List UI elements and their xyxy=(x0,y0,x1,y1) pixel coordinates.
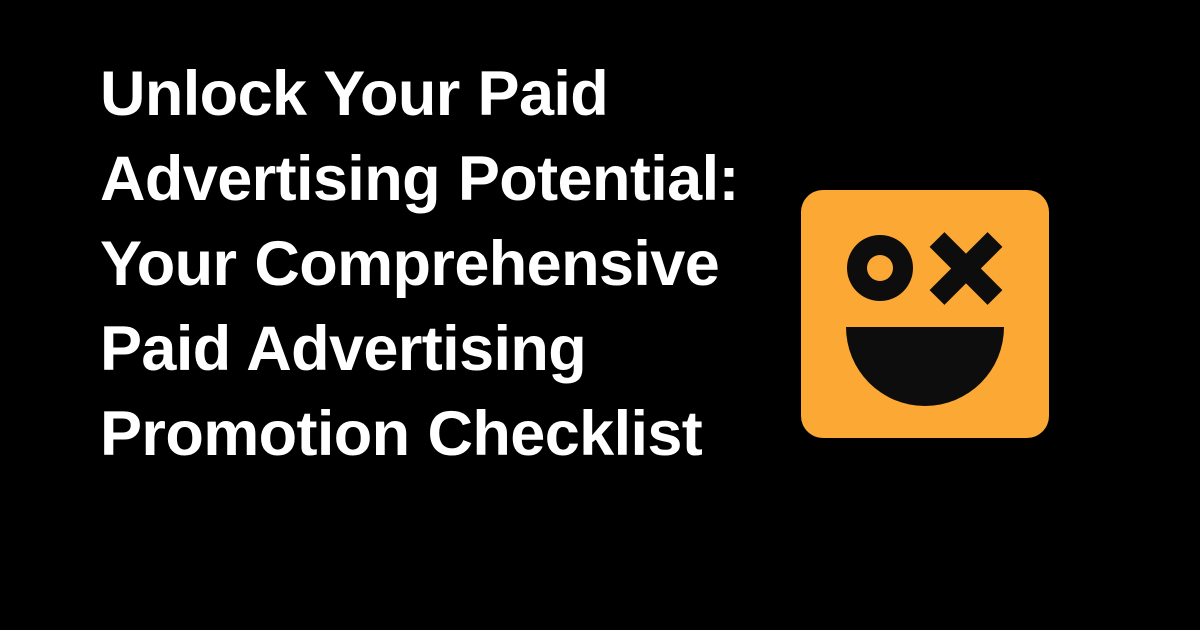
ring-eye-icon xyxy=(847,235,913,301)
x-eye-icon xyxy=(934,236,998,300)
semicircle-smile-icon xyxy=(846,327,1004,406)
smiley-face-icon xyxy=(801,190,1049,438)
social-share-card: Unlock Your Paid Advertising Potential: … xyxy=(0,0,1200,630)
brand-logo xyxy=(801,190,1049,438)
page-title: Unlock Your Paid Advertising Potential: … xyxy=(100,52,772,477)
headline-block: Unlock Your Paid Advertising Potential: … xyxy=(100,52,772,477)
